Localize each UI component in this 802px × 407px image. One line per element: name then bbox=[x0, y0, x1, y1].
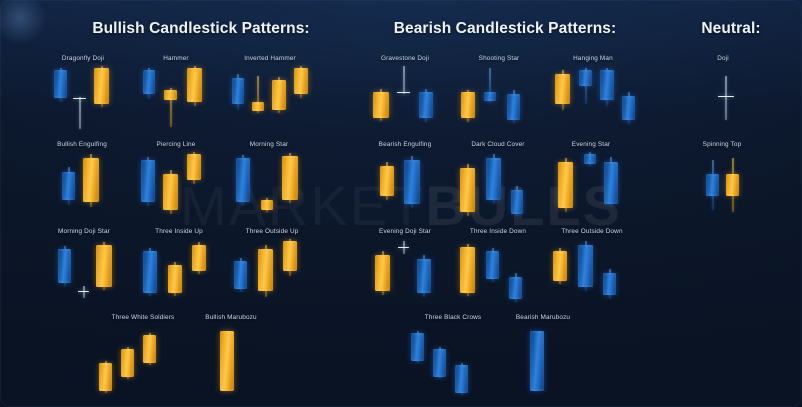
pattern-three-white-soldiers: Three White Soldiers bbox=[93, 314, 193, 396]
pattern-three-outside-up: Three Outside Up bbox=[226, 228, 318, 300]
pattern-three-inside-down: Three Inside Down bbox=[452, 228, 544, 300]
candle-up bbox=[261, 152, 273, 213]
candle-down bbox=[143, 239, 157, 300]
candle-down bbox=[419, 66, 433, 127]
candle-down bbox=[706, 152, 719, 213]
candle-up bbox=[460, 152, 475, 213]
pattern-dark-cloud-cover: Dark Cloud Cover bbox=[452, 141, 544, 213]
candle-plot bbox=[405, 325, 501, 396]
candle-down bbox=[236, 152, 250, 213]
candle-body bbox=[604, 162, 618, 204]
candle-body bbox=[232, 78, 244, 104]
candle-body bbox=[553, 251, 567, 281]
candle-body bbox=[58, 249, 71, 283]
candle-body bbox=[530, 331, 544, 391]
candle-down bbox=[530, 325, 544, 396]
candle-down bbox=[455, 325, 468, 396]
candle-plot bbox=[360, 152, 450, 213]
candle-down bbox=[404, 152, 420, 213]
pattern-label: Three White Soldiers bbox=[93, 314, 193, 321]
candle-wick bbox=[83, 286, 84, 298]
candle-plot bbox=[682, 152, 762, 213]
pattern-label: Evening Doji Star bbox=[359, 228, 451, 235]
candle-plot bbox=[688, 66, 758, 127]
candle-up bbox=[726, 152, 739, 213]
pattern-dragonfly-doji: Dragonfly Doji bbox=[40, 55, 126, 127]
candle-body bbox=[168, 265, 182, 293]
bearish-section-header: Bearish Candlestick Patterns: bbox=[340, 20, 670, 38]
candle-body bbox=[460, 168, 475, 212]
pattern-bullish-marubozu: Bullish Marubozu bbox=[190, 314, 272, 396]
candle-plot bbox=[500, 325, 586, 396]
candle-body bbox=[509, 277, 522, 299]
candle-body bbox=[282, 156, 298, 200]
pattern-three-outside-down: Three Outside Down bbox=[545, 228, 639, 300]
candle-body bbox=[99, 363, 112, 391]
candle-doji bbox=[398, 239, 409, 300]
candle-body bbox=[461, 92, 475, 118]
candle-up bbox=[187, 152, 201, 213]
candle-down bbox=[433, 325, 446, 396]
candle-down bbox=[509, 239, 522, 300]
pattern-gravestone-doji: Gravestone Doji bbox=[361, 55, 449, 127]
pattern-label: Doji bbox=[688, 55, 758, 62]
candle-down bbox=[54, 66, 67, 127]
candle-body bbox=[283, 241, 297, 271]
candle-down bbox=[486, 152, 501, 213]
candle-body bbox=[143, 335, 156, 363]
pattern-doji: Doji bbox=[688, 55, 758, 127]
candle-plot bbox=[547, 66, 639, 127]
candle-body bbox=[419, 92, 433, 118]
pattern-label: Spinning Top bbox=[682, 141, 762, 148]
candle-body bbox=[272, 80, 286, 110]
candle-up bbox=[83, 152, 99, 213]
candle-body bbox=[236, 158, 250, 202]
pattern-label: Gravestone Doji bbox=[361, 55, 449, 62]
candle-plot bbox=[190, 325, 272, 396]
candle-plot bbox=[452, 152, 544, 213]
pattern-label: Inverted Hammer bbox=[224, 55, 316, 62]
candle-plot bbox=[40, 66, 126, 127]
pattern-label: Evening Star bbox=[546, 141, 636, 148]
pattern-label: Hanging Man bbox=[547, 55, 639, 62]
candle-plot bbox=[133, 152, 219, 213]
candle-plot bbox=[359, 239, 451, 300]
candle-body bbox=[187, 154, 201, 180]
candle-up bbox=[375, 239, 390, 300]
candle-down bbox=[58, 239, 71, 300]
candle-body bbox=[718, 96, 734, 97]
candle-doji bbox=[78, 239, 89, 300]
candle-body bbox=[455, 365, 468, 393]
pattern-evening-star: Evening Star bbox=[546, 141, 636, 213]
candle-body bbox=[234, 261, 247, 289]
pattern-label: Three Outside Up bbox=[226, 228, 318, 235]
candle-body bbox=[164, 90, 177, 100]
candle-down bbox=[417, 239, 431, 300]
candle-body bbox=[220, 331, 234, 391]
pattern-label: Morning Doji Star bbox=[38, 228, 130, 235]
candle-down bbox=[486, 239, 499, 300]
candle-up bbox=[121, 325, 134, 396]
pattern-three-inside-up: Three Inside Up bbox=[135, 228, 223, 300]
candle-plot bbox=[226, 239, 318, 300]
candle-up bbox=[460, 239, 475, 300]
candle-doji bbox=[73, 66, 86, 127]
neutral-section-header: Neutral: bbox=[660, 20, 802, 38]
candle-body bbox=[78, 291, 89, 292]
candle-body bbox=[398, 247, 409, 248]
candle-body bbox=[578, 245, 593, 287]
candle-plot bbox=[93, 325, 193, 396]
candle-plot bbox=[224, 66, 316, 127]
pattern-bullish-engulfing: Bullish Engulfing bbox=[38, 141, 126, 213]
pattern-morning-star: Morning Star bbox=[224, 141, 314, 213]
pattern-label: Bearish Marubozu bbox=[500, 314, 586, 321]
candle-body bbox=[460, 247, 475, 293]
candle-up bbox=[272, 66, 286, 127]
candle-body bbox=[143, 251, 157, 293]
candle-down bbox=[507, 66, 520, 127]
pattern-chart-canvas: MARKETBULLS Bullish Candlestick Patterns… bbox=[0, 0, 802, 407]
candle-doji bbox=[718, 66, 734, 127]
candle-body bbox=[558, 162, 573, 208]
candle-up bbox=[168, 239, 182, 300]
candle-body bbox=[96, 245, 112, 287]
candle-up bbox=[164, 66, 177, 127]
pattern-inverted-hammer: Inverted Hammer bbox=[224, 55, 316, 127]
pattern-label: Three Inside Down bbox=[452, 228, 544, 235]
candle-body bbox=[294, 68, 308, 94]
candle-plot bbox=[545, 239, 639, 300]
candle-body bbox=[404, 160, 420, 204]
candle-up bbox=[187, 66, 202, 127]
candle-up bbox=[555, 66, 570, 127]
candle-body bbox=[83, 158, 99, 202]
candle-up bbox=[283, 239, 297, 300]
pattern-evening-doji-star: Evening Doji Star bbox=[359, 228, 451, 300]
pattern-label: Shooting Star bbox=[455, 55, 543, 62]
candle-body bbox=[163, 174, 178, 210]
candle-body bbox=[555, 74, 570, 104]
candle-up bbox=[558, 152, 573, 213]
candle-wick bbox=[79, 97, 80, 129]
candle-down bbox=[411, 325, 424, 396]
pattern-label: Bullish Engulfing bbox=[38, 141, 126, 148]
candle-up bbox=[380, 152, 394, 213]
candle-body bbox=[603, 273, 616, 295]
pattern-label: Three Inside Up bbox=[135, 228, 223, 235]
candle-body bbox=[579, 70, 592, 86]
candle-body bbox=[261, 200, 273, 210]
pattern-label: Morning Star bbox=[224, 141, 314, 148]
candle-wick bbox=[726, 76, 727, 120]
candle-up bbox=[99, 325, 112, 396]
candle-down bbox=[584, 152, 596, 213]
candle-up bbox=[461, 66, 475, 127]
candle-up bbox=[220, 325, 234, 396]
candle-body bbox=[258, 249, 273, 291]
pattern-label: Dragonfly Doji bbox=[40, 55, 126, 62]
pattern-label: Bearish Engulfing bbox=[360, 141, 450, 148]
candle-up bbox=[192, 239, 206, 300]
candle-plot bbox=[133, 66, 219, 127]
pattern-hammer: Hammer bbox=[133, 55, 219, 127]
pattern-label: Three Black Crows bbox=[405, 314, 501, 321]
candle-body bbox=[397, 92, 410, 93]
candle-up bbox=[252, 66, 264, 127]
candle-down bbox=[62, 152, 75, 213]
candle-down bbox=[141, 152, 155, 213]
candle-body bbox=[380, 166, 394, 196]
candle-body bbox=[622, 96, 635, 120]
candle-up bbox=[294, 66, 308, 127]
candle-body bbox=[252, 102, 264, 111]
candle-up bbox=[553, 239, 567, 300]
candle-up bbox=[96, 239, 112, 300]
candle-body bbox=[143, 70, 155, 94]
candle-body bbox=[94, 68, 109, 104]
candle-body bbox=[600, 70, 614, 100]
candle-plot bbox=[455, 66, 543, 127]
candle-body bbox=[192, 245, 206, 271]
pattern-spinning-top: Spinning Top bbox=[682, 141, 762, 213]
candle-body bbox=[706, 174, 719, 196]
candle-body bbox=[486, 251, 499, 279]
candle-up bbox=[143, 325, 156, 396]
pattern-piercing-line: Piercing Line bbox=[133, 141, 219, 213]
pattern-bearish-engulfing: Bearish Engulfing bbox=[360, 141, 450, 213]
candle-body bbox=[433, 349, 446, 377]
candle-body bbox=[486, 158, 501, 200]
candle-up bbox=[163, 152, 178, 213]
pattern-label: Hammer bbox=[133, 55, 219, 62]
candle-down bbox=[600, 66, 614, 127]
candle-down bbox=[603, 239, 616, 300]
candle-down bbox=[604, 152, 618, 213]
candle-down bbox=[579, 66, 592, 127]
candle-body bbox=[62, 172, 75, 200]
candle-down bbox=[622, 66, 635, 127]
candle-body bbox=[507, 94, 520, 120]
candle-body bbox=[484, 92, 496, 101]
candle-body bbox=[373, 92, 389, 118]
candle-plot bbox=[224, 152, 314, 213]
candle-plot bbox=[38, 239, 130, 300]
candle-plot bbox=[452, 239, 544, 300]
candle-down bbox=[234, 239, 247, 300]
candle-body bbox=[584, 154, 596, 164]
candle-up bbox=[94, 66, 109, 127]
pattern-label: Dark Cloud Cover bbox=[452, 141, 544, 148]
candle-down bbox=[232, 66, 244, 127]
candle-plot bbox=[361, 66, 449, 127]
candle-body bbox=[375, 255, 390, 291]
candle-up bbox=[258, 239, 273, 300]
candle-body bbox=[121, 349, 134, 377]
pattern-shooting-star: Shooting Star bbox=[455, 55, 543, 127]
candle-doji bbox=[397, 66, 410, 127]
candle-body bbox=[141, 160, 155, 202]
candle-wick bbox=[403, 66, 404, 94]
candle-down bbox=[143, 66, 155, 127]
pattern-label: Piercing Line bbox=[133, 141, 219, 148]
pattern-bearish-marubozu: Bearish Marubozu bbox=[500, 314, 586, 396]
candle-body bbox=[511, 190, 523, 214]
candle-body bbox=[73, 98, 86, 99]
candle-down bbox=[578, 239, 593, 300]
candle-down bbox=[484, 66, 496, 127]
pattern-label: Bullish Marubozu bbox=[190, 314, 272, 321]
pattern-morning-doji-star: Morning Doji Star bbox=[38, 228, 130, 300]
candle-body bbox=[417, 259, 431, 293]
candle-up bbox=[373, 66, 389, 127]
candle-plot bbox=[38, 152, 126, 213]
candle-plot bbox=[546, 152, 636, 213]
candle-plot bbox=[135, 239, 223, 300]
candle-down bbox=[511, 152, 523, 213]
candle-up bbox=[282, 152, 298, 213]
candle-body bbox=[726, 174, 739, 196]
pattern-label: Three Outside Down bbox=[545, 228, 639, 235]
pattern-hanging-man: Hanging Man bbox=[547, 55, 639, 127]
candle-body bbox=[54, 70, 67, 98]
candle-body bbox=[187, 68, 202, 102]
candle-body bbox=[411, 333, 424, 361]
pattern-three-black-crows: Three Black Crows bbox=[405, 314, 501, 396]
